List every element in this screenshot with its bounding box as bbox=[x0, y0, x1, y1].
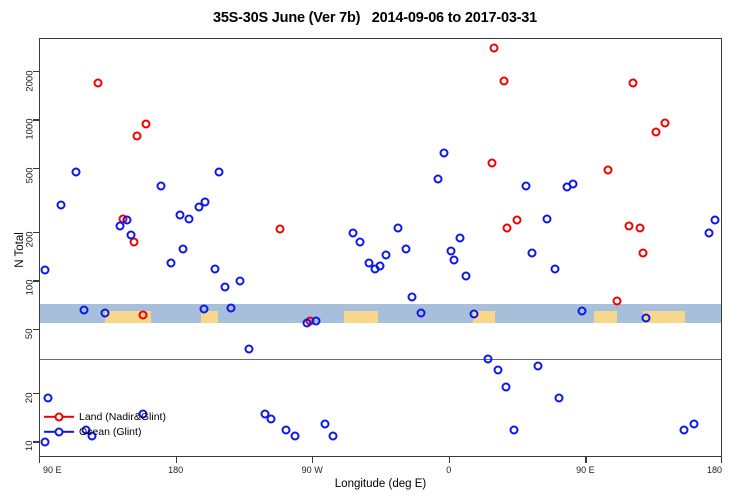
data-point-ocean bbox=[509, 425, 518, 434]
data-point-ocean bbox=[375, 261, 384, 270]
chart-root: 35S-30S June (Ver 7b) 2014-09-06 to 2017… bbox=[0, 0, 750, 500]
legend-marker-icon bbox=[44, 426, 74, 437]
data-point-land bbox=[275, 225, 284, 234]
data-point-ocean bbox=[215, 167, 224, 176]
data-point-ocean bbox=[266, 414, 275, 423]
data-point-ocean bbox=[407, 292, 416, 301]
data-point-ocean bbox=[416, 308, 425, 317]
data-point-ocean bbox=[433, 175, 442, 184]
data-point-land bbox=[612, 297, 621, 306]
data-point-land bbox=[624, 222, 633, 231]
data-point-land bbox=[488, 159, 497, 168]
data-point-ocean bbox=[178, 244, 187, 253]
data-point-ocean bbox=[201, 198, 210, 207]
data-point-land bbox=[503, 223, 512, 232]
data-point-ocean bbox=[450, 256, 459, 265]
x-tick bbox=[39, 457, 40, 463]
data-point-ocean bbox=[281, 425, 290, 434]
data-point-land bbox=[139, 310, 148, 319]
data-point-ocean bbox=[127, 230, 136, 239]
x-tick-label: 0 bbox=[446, 465, 451, 475]
data-point-land bbox=[142, 119, 151, 128]
data-point-ocean bbox=[303, 319, 312, 328]
x-tick-label: 90 W bbox=[302, 465, 323, 475]
data-point-ocean bbox=[439, 149, 448, 158]
data-point-ocean bbox=[705, 228, 714, 237]
data-point-ocean bbox=[542, 214, 551, 223]
x-tick-label: 180 bbox=[707, 465, 722, 475]
data-point-ocean bbox=[236, 277, 245, 286]
data-point-ocean bbox=[40, 266, 49, 275]
legend-item-label: Ocean (Glint) bbox=[79, 426, 141, 438]
data-point-ocean bbox=[328, 431, 337, 440]
data-point-ocean bbox=[227, 304, 236, 313]
plot-area bbox=[39, 38, 722, 457]
data-point-ocean bbox=[245, 345, 254, 354]
y-axis: 10205010020050010002000 bbox=[0, 38, 39, 457]
data-point-ocean bbox=[711, 216, 720, 225]
x-tick-label: 90 E bbox=[576, 465, 595, 475]
data-point-ocean bbox=[382, 251, 391, 260]
legend-marker-icon bbox=[44, 411, 74, 422]
data-point-ocean bbox=[577, 307, 586, 316]
data-point-land bbox=[489, 44, 498, 53]
y-tick-label: 20 bbox=[25, 392, 36, 403]
land-segment bbox=[594, 311, 617, 323]
data-point-land bbox=[512, 216, 521, 225]
data-point-ocean bbox=[348, 228, 357, 237]
data-point-ocean bbox=[40, 438, 49, 447]
data-point-ocean bbox=[199, 305, 208, 314]
x-tick bbox=[449, 457, 450, 463]
data-point-ocean bbox=[122, 216, 131, 225]
data-point-ocean bbox=[555, 393, 564, 402]
data-point-ocean bbox=[501, 383, 510, 392]
data-point-ocean bbox=[394, 223, 403, 232]
legend-item-label: Land (Nadir&Glint) bbox=[79, 411, 166, 423]
x-axis: 90 E18090 W090 E180 bbox=[39, 457, 722, 479]
x-axis-title: Longitude (deg E) bbox=[39, 478, 722, 490]
y-tick-label: 500 bbox=[25, 167, 36, 183]
data-point-ocean bbox=[312, 316, 321, 325]
threshold-line bbox=[40, 359, 721, 361]
data-point-land bbox=[500, 77, 509, 86]
data-point-ocean bbox=[456, 234, 465, 243]
data-point-ocean bbox=[521, 182, 530, 191]
data-point-ocean bbox=[641, 314, 650, 323]
y-tick-label: 100 bbox=[25, 280, 36, 296]
data-point-ocean bbox=[462, 271, 471, 280]
data-point-land bbox=[661, 119, 670, 128]
data-point-ocean bbox=[210, 264, 219, 273]
data-point-land bbox=[133, 131, 142, 140]
y-tick-label: 1000 bbox=[25, 119, 36, 140]
land-segment bbox=[344, 311, 379, 323]
data-point-ocean bbox=[43, 393, 52, 402]
x-tick bbox=[176, 457, 177, 463]
data-point-land bbox=[93, 79, 102, 88]
data-point-ocean bbox=[101, 308, 110, 317]
data-point-ocean bbox=[184, 214, 193, 223]
y-tick-label: 50 bbox=[25, 328, 36, 339]
data-point-land bbox=[629, 79, 638, 88]
data-point-ocean bbox=[401, 244, 410, 253]
data-point-land bbox=[652, 127, 661, 136]
x-tick-label: 90 E bbox=[43, 465, 62, 475]
y-tick-label: 10 bbox=[25, 441, 36, 452]
data-point-ocean bbox=[221, 283, 230, 292]
x-tick-label: 180 bbox=[168, 465, 183, 475]
legend-item[interactable]: Land (Nadir&Glint) bbox=[44, 409, 166, 424]
x-tick bbox=[721, 457, 722, 463]
data-point-land bbox=[603, 166, 612, 175]
data-point-ocean bbox=[321, 420, 330, 429]
data-point-ocean bbox=[470, 309, 479, 318]
legend: Land (Nadir&Glint)Ocean (Glint) bbox=[44, 409, 166, 439]
data-point-ocean bbox=[447, 246, 456, 255]
data-point-ocean bbox=[356, 238, 365, 247]
data-point-ocean bbox=[533, 361, 542, 370]
y-tick-label: 200 bbox=[25, 231, 36, 247]
data-point-ocean bbox=[166, 259, 175, 268]
data-point-ocean bbox=[157, 182, 166, 191]
data-point-ocean bbox=[679, 425, 688, 434]
x-tick bbox=[312, 457, 313, 463]
data-point-ocean bbox=[550, 264, 559, 273]
x-tick bbox=[585, 457, 586, 463]
data-point-ocean bbox=[568, 180, 577, 189]
data-point-ocean bbox=[690, 420, 699, 429]
data-point-ocean bbox=[175, 210, 184, 219]
data-point-ocean bbox=[483, 354, 492, 363]
y-tick-label: 2000 bbox=[25, 70, 36, 91]
data-point-land bbox=[635, 223, 644, 232]
data-point-ocean bbox=[527, 249, 536, 258]
data-point-ocean bbox=[80, 306, 89, 315]
page-title: 35S-30S June (Ver 7b) 2014-09-06 to 2017… bbox=[0, 10, 750, 26]
data-point-land bbox=[638, 249, 647, 258]
legend-item[interactable]: Ocean (Glint) bbox=[44, 424, 166, 439]
data-point-ocean bbox=[72, 167, 81, 176]
data-point-ocean bbox=[494, 366, 503, 375]
data-point-ocean bbox=[57, 200, 66, 209]
data-point-ocean bbox=[290, 431, 299, 440]
